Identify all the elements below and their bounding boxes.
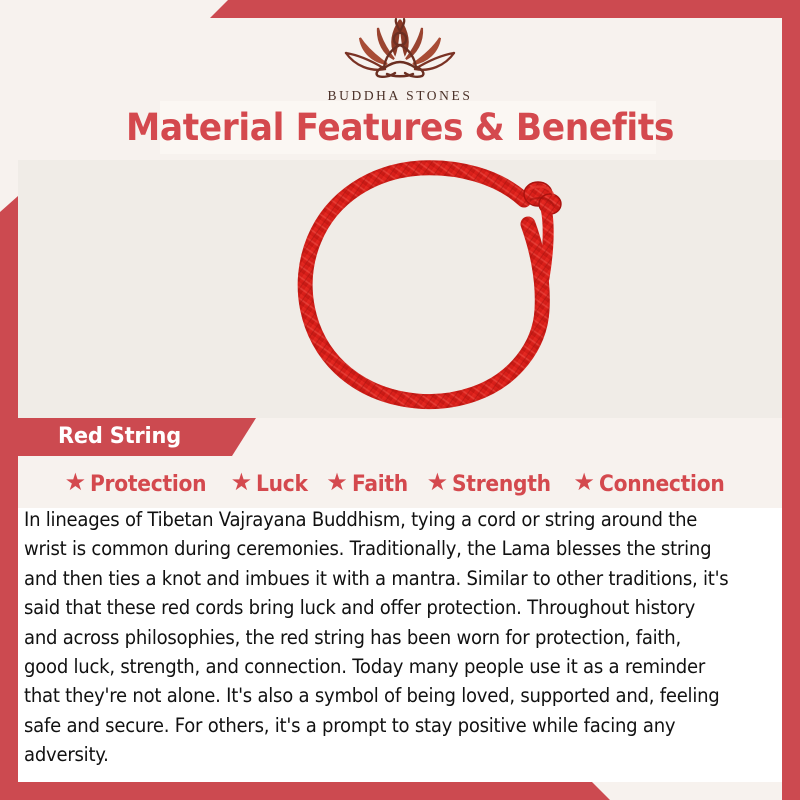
feature-item: ★ Strength (422, 472, 565, 497)
feature-item: ★ Connection (568, 472, 740, 497)
star-icon: ★ (231, 471, 253, 495)
star-icon: ★ (65, 471, 87, 495)
feature-item: ★ Protection (60, 472, 222, 497)
feature-item: ★ Faith (321, 472, 417, 497)
star-icon: ★ (326, 471, 348, 495)
brand-logo: BUDDHA STONES (0, 14, 800, 104)
product-image-panel (18, 160, 782, 418)
feature-item: ★ Luck (226, 472, 318, 497)
feature-label: Luck (256, 472, 308, 497)
feature-label: Connection (599, 472, 724, 497)
feature-label: Faith (352, 472, 408, 497)
material-name: Red String (58, 419, 181, 455)
frame-bar-bottom (0, 782, 800, 800)
lotus-meditation-icon (315, 14, 485, 86)
star-icon: ★ (573, 471, 595, 495)
feature-list: ★ Protection ★ Luck ★ Faith ★ Strength ★… (18, 464, 782, 504)
description-text: In lineages of Tibetan Vajrayana Buddhis… (24, 505, 729, 770)
feature-label: Protection (90, 472, 206, 497)
star-icon: ★ (427, 471, 449, 495)
frame-bar-left (0, 0, 18, 800)
feature-label: Strength (452, 472, 551, 497)
red-string-bracelet-image (262, 160, 592, 418)
infographic-page: BUDDHA STONES Material Features & Benefi… (0, 0, 800, 800)
frame-bar-right (782, 0, 800, 800)
page-title: Material Features & Benefits (28, 100, 772, 155)
